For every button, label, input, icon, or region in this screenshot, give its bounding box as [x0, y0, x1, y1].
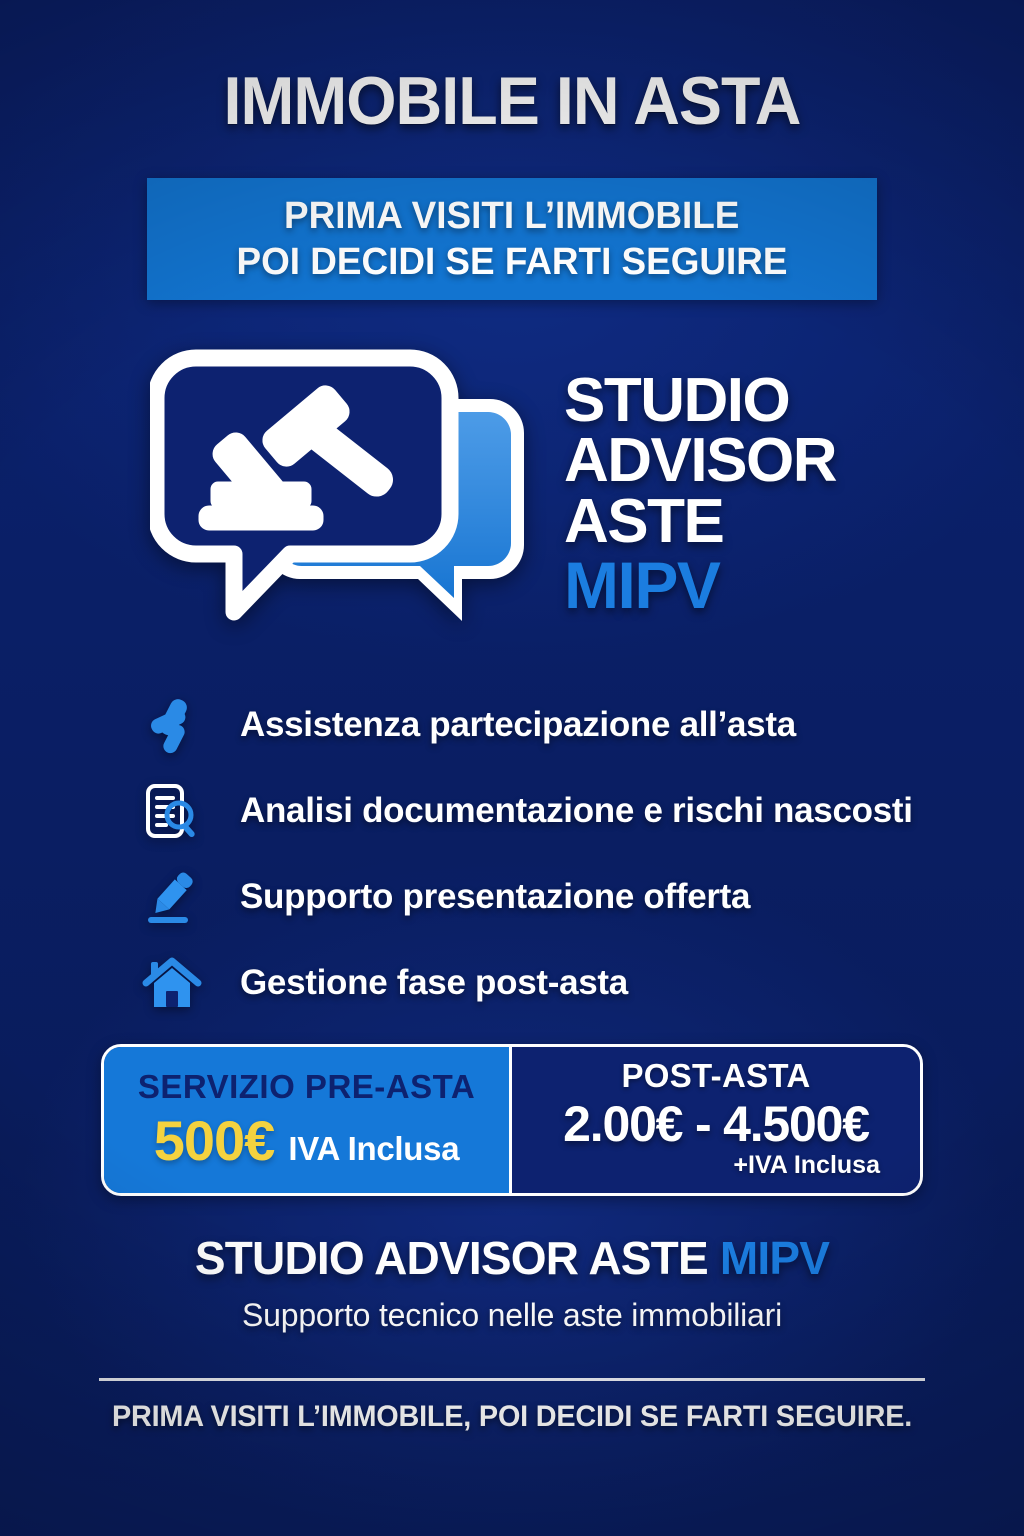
brand-line-mipv: MIPV	[564, 553, 836, 618]
gavel-icon	[136, 689, 208, 761]
feature-label: Supporto presentazione offerta	[240, 877, 750, 917]
subtitle-line-1: PRIMA VISITI L’IMMOBILE	[284, 193, 739, 239]
brand-line-advisor: ADVISOR	[564, 431, 836, 492]
feature-label: Analisi documentazione e rischi nascosti	[240, 791, 913, 831]
footer-brand: STUDIO ADVISOR ASTE MIPV	[0, 1231, 1024, 1285]
pricing-box: SERVIZIO PRE-ASTA 500€ IVA Inclusa POST-…	[101, 1044, 923, 1196]
price-card-pre-asta: SERVIZIO PRE-ASTA 500€ IVA Inclusa	[104, 1047, 512, 1193]
subtitle-banner: PRIMA VISITI L’IMMOBILE POI DECIDI SE FA…	[147, 178, 877, 300]
feature-list: Assistenza partecipazione all’asta Anali…	[136, 682, 936, 1026]
speech-bubble-gavel-logo-icon	[150, 344, 550, 644]
price-amount: 2.00€ - 4.500€	[563, 1095, 869, 1153]
footer-brand-main: STUDIO ADVISOR ASTE	[195, 1232, 720, 1284]
price-row: 500€ IVA Inclusa	[154, 1108, 460, 1173]
page-title: IMMOBILE IN ASTA	[26, 62, 999, 140]
footer-subtitle: Supporto tecnico nelle aste immobiliari	[0, 1297, 1024, 1334]
price-title: SERVIZIO PRE-ASTA	[138, 1068, 475, 1106]
price-card-post-asta: POST-ASTA 2.00€ - 4.500€ +IVA Inclusa	[512, 1047, 920, 1193]
list-item: Supporto presentazione offerta	[136, 854, 936, 940]
footer-brand-accent: MIPV	[720, 1232, 829, 1284]
house-icon	[136, 947, 208, 1019]
pen-signature-icon	[136, 861, 208, 933]
list-item: Assistenza partecipazione all’asta	[136, 682, 936, 768]
list-item: Analisi documentazione e rischi nascosti	[136, 768, 936, 854]
brand-line-studio: STUDIO	[564, 371, 836, 432]
price-amount: 500€	[154, 1108, 275, 1173]
brand-wordmark: STUDIO ADVISOR ASTE MIPV	[564, 371, 836, 618]
feature-label: Gestione fase post-asta	[240, 963, 628, 1003]
footer-divider	[99, 1378, 925, 1381]
brand-line-aste: ASTE	[564, 492, 836, 553]
document-search-icon	[136, 775, 208, 847]
subtitle-line-2: POI DECIDI SE FARTI SEGUIRE	[237, 239, 788, 285]
feature-label: Assistenza partecipazione all’asta	[240, 705, 796, 745]
footer-tagline: PRIMA VISITI L’IMMOBILE, POI DECIDI SE F…	[20, 1400, 1003, 1434]
list-item: Gestione fase post-asta	[136, 940, 936, 1026]
price-vat-note: IVA Inclusa	[288, 1130, 459, 1168]
logo-block: STUDIO ADVISOR ASTE MIPV	[150, 344, 910, 644]
price-title: POST-ASTA	[621, 1057, 810, 1095]
poster-canvas: IMMOBILE IN ASTA PRIMA VISITI L’IMMOBILE…	[0, 0, 1024, 1536]
price-vat-note: +IVA Inclusa	[733, 1151, 880, 1180]
